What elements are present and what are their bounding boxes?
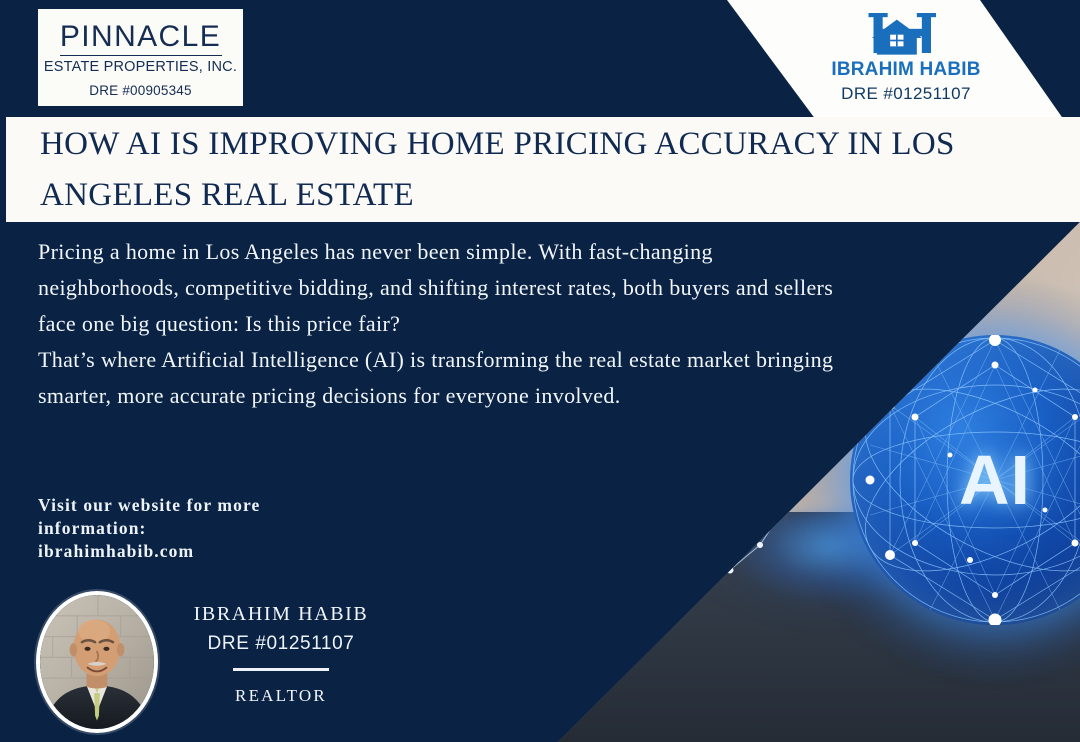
cta-line-1: Visit our website for more <box>38 494 458 517</box>
body-paragraph-1: Pricing a home in Los Angeles has never … <box>38 234 838 342</box>
avatar <box>36 591 158 733</box>
agent-role: REALTOR <box>186 687 376 706</box>
cta-line-2: information: <box>38 517 458 540</box>
agent-brand-name: IBRAHIM HABIB <box>831 59 980 81</box>
brokerage-logo-divider <box>60 55 222 57</box>
website-cta[interactable]: Visit our website for more information: … <box>38 494 458 563</box>
ai-sphere: AI <box>850 335 1080 625</box>
agent-details: IBRAHIM HABIB DRE #01251107 REALTOR <box>186 591 376 706</box>
brokerage-name: PINNACLE <box>60 22 221 52</box>
poster-canvas: AI <box>0 0 1080 742</box>
agent-divider <box>233 668 329 671</box>
agent-dre-number: DRE #01251107 <box>186 634 376 655</box>
house-h-monogram-icon <box>860 8 952 58</box>
agent-brand-dre: DRE #01251107 <box>841 84 971 104</box>
brokerage-subtitle: ESTATE PROPERTIES, INC. <box>44 60 237 75</box>
cta-website-url[interactable]: ibrahimhabib.com <box>38 540 458 563</box>
headline-band: HOW AI IS IMPROVING HOME PRICING ACCURAC… <box>6 117 1080 222</box>
body-paragraph-2: That’s where Artificial Intelligence (AI… <box>38 342 838 414</box>
brokerage-dre: DRE #00905345 <box>89 84 191 98</box>
agent-footer: IBRAHIM HABIB DRE #01251107 REALTOR <box>36 591 376 733</box>
agent-brand-logo[interactable]: IBRAHIM HABIB DRE #01251107 <box>820 8 992 112</box>
ai-graphic-label: AI <box>850 335 1080 625</box>
agent-headshot-photo <box>40 595 154 729</box>
agent-name: IBRAHIM HABIB <box>186 603 376 625</box>
body-copy: Pricing a home in Los Angeles has never … <box>38 234 838 414</box>
brokerage-logo[interactable]: PINNACLE ESTATE PROPERTIES, INC. DRE #00… <box>38 9 243 106</box>
page-title: HOW AI IS IMPROVING HOME PRICING ACCURAC… <box>6 119 1041 219</box>
headshot-illustration-icon <box>40 595 154 729</box>
